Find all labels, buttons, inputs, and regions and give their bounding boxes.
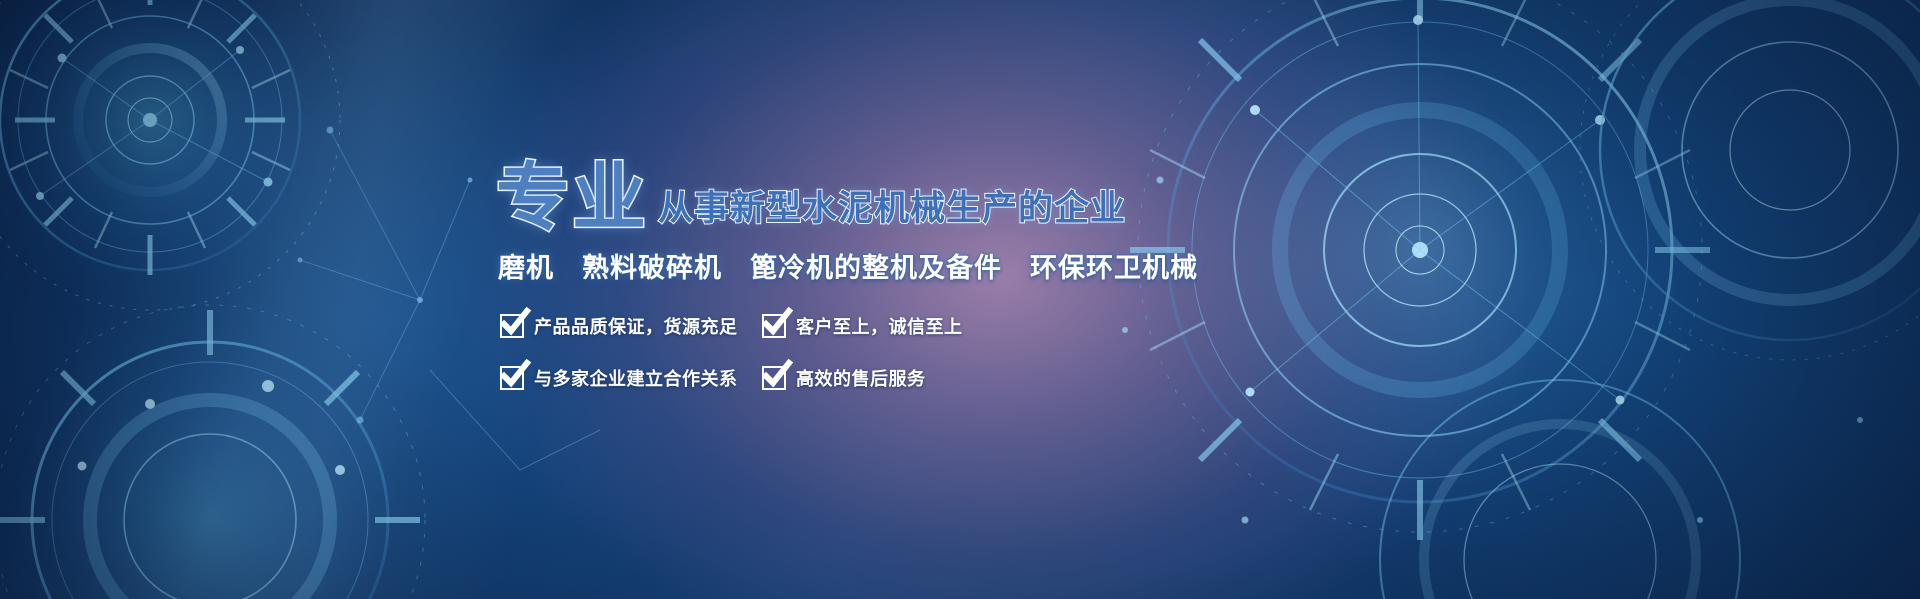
feature-label: 客户至上，诚信至上 <box>796 313 963 339</box>
checkmark-icon <box>500 314 524 338</box>
feature-item-1: 产品品质保证，货源充足 <box>500 313 762 339</box>
feature-label: 产品品质保证，货源充足 <box>534 313 738 339</box>
feature-list: 产品品质保证，货源充足 客户至上，诚信至上 与多家企业建立合作关系 <box>500 313 1134 391</box>
feature-item-4: 高效的售后服务 <box>762 365 1134 391</box>
page-title: 专业 <box>496 164 648 232</box>
checkmark-icon <box>762 366 786 390</box>
banner-content: 专业 从事新型水泥机械生产的企业 磨机 熟料破碎机 篦冷机的整机及备件 环保环卫… <box>494 150 1134 391</box>
hero-banner: 专业 从事新型水泥机械生产的企业 磨机 熟料破碎机 篦冷机的整机及备件 环保环卫… <box>0 0 1920 599</box>
checkmark-icon <box>762 314 786 338</box>
checkmark-icon <box>500 366 524 390</box>
product-tagline: 磨机 熟料破碎机 篦冷机的整机及备件 环保环卫机械 <box>498 246 1134 285</box>
feature-label: 高效的售后服务 <box>796 365 926 391</box>
page-subtitle: 从事新型水泥机械生产的企业 <box>658 191 1126 232</box>
feature-item-3: 与多家企业建立合作关系 <box>500 365 762 391</box>
feature-item-2: 客户至上，诚信至上 <box>762 313 1134 339</box>
feature-label: 与多家企业建立合作关系 <box>534 365 738 391</box>
headline-row: 专业 从事新型水泥机械生产的企业 <box>496 150 1134 232</box>
